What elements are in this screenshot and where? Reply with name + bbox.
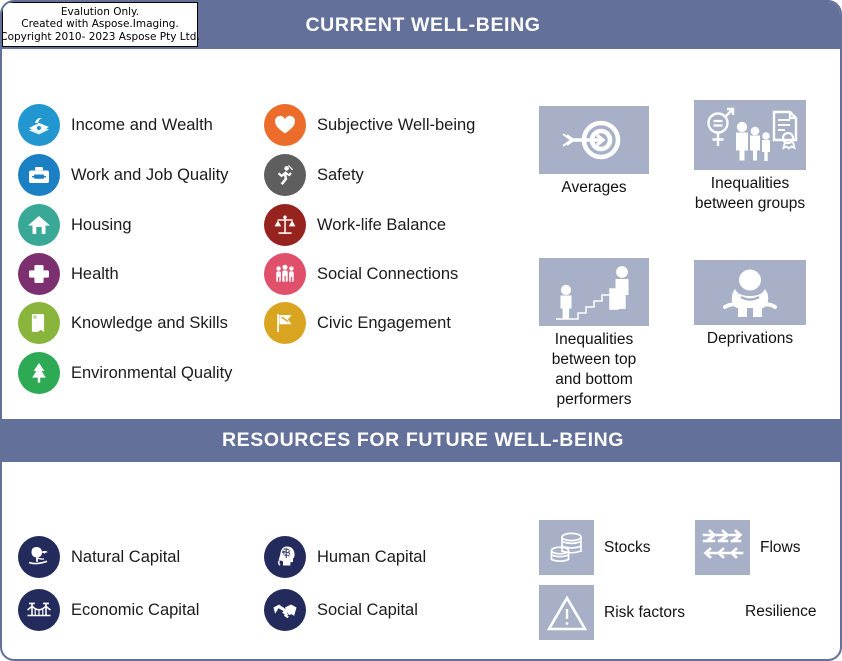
indicator-label: Knowledge and Skills <box>71 314 228 333</box>
house-icon <box>18 204 60 246</box>
indicator-work-life-balance[interactable]: Work-life Balance <box>264 204 446 246</box>
tile-resilience[interactable]: Resilience <box>745 603 817 621</box>
tile-label: Inequalities between groups <box>694 174 806 214</box>
aspose-watermark: Evalution Only. Created with Aspose.Imag… <box>2 2 198 47</box>
indicator-work-and-job-quality[interactable]: Work and Job Quality <box>18 154 228 196</box>
capital-label: Human Capital <box>317 548 426 567</box>
tile-deprivations[interactable]: Deprivations <box>694 260 806 349</box>
running-person-icon <box>264 154 306 196</box>
indicator-civic-engagement[interactable]: Civic Engagement <box>264 302 451 344</box>
wellbeing-framework-diagram: Evalution Only. Created with Aspose.Imag… <box>0 0 842 661</box>
tile-inequalities-between-groups[interactable]: Inequalities between groups <box>694 100 806 214</box>
book-icon <box>18 302 60 344</box>
tile-inequalities-top-bottom[interactable]: Inequalities between top and bottom perf… <box>539 258 649 410</box>
flag-icon <box>264 302 306 344</box>
indicator-label: Civic Engagement <box>317 314 451 333</box>
indicator-label: Safety <box>317 166 364 185</box>
tile-label: Stocks <box>604 538 651 558</box>
tile-label: Risk factors <box>604 603 685 623</box>
tile-label: Averages <box>539 178 649 198</box>
money-icon <box>18 104 60 146</box>
briefcase-icon <box>18 154 60 196</box>
indicator-label: Health <box>71 265 119 284</box>
section-title-current: CURRENT WELL-BEING <box>305 14 540 37</box>
person-crouching-icon <box>694 260 806 325</box>
handshake-icon <box>264 589 306 631</box>
medical-cross-icon <box>18 253 60 295</box>
target-arrow-icon <box>539 106 649 174</box>
gender-equality-family-icon <box>694 100 806 170</box>
watermark-line-2: Created with Aspose.Imaging. <box>21 18 179 31</box>
tile-risk-factors[interactable]: Risk factors <box>539 585 685 640</box>
capital-label: Economic Capital <box>71 601 199 620</box>
tile-label: Resilience <box>745 603 817 620</box>
indicator-label: Income and Wealth <box>71 116 213 135</box>
capital-natural[interactable]: Natural Capital <box>18 536 180 578</box>
bridge-icon <box>18 589 60 631</box>
coin-stack-icon <box>539 520 594 575</box>
flow-arrows-icon <box>695 520 750 575</box>
indicator-social-connections[interactable]: Social Connections <box>264 253 458 295</box>
indicator-housing[interactable]: Housing <box>18 204 132 246</box>
capital-human[interactable]: Human Capital <box>264 536 426 578</box>
capital-economic[interactable]: Economic Capital <box>18 589 199 631</box>
indicator-safety[interactable]: Safety <box>264 154 364 196</box>
indicator-label: Subjective Well-being <box>317 116 475 135</box>
indicator-label: Work-life Balance <box>317 216 446 235</box>
watermark-line-1: Evalution Only. <box>61 6 139 19</box>
tile-averages[interactable]: Averages <box>539 106 649 198</box>
indicator-income-and-wealth[interactable]: Income and Wealth <box>18 104 213 146</box>
tile-label: Deprivations <box>694 329 806 349</box>
nature-globe-icon <box>18 536 60 578</box>
scales-icon <box>264 204 306 246</box>
watermark-line-3: Copyright 2010- 2023 Aspose Pty Ltd. <box>0 31 200 44</box>
indicator-label: Work and Job Quality <box>71 166 228 185</box>
head-brain-icon <box>264 536 306 578</box>
tile-stocks[interactable]: Stocks <box>539 520 651 575</box>
indicator-knowledge-and-skills[interactable]: Knowledge and Skills <box>18 302 228 344</box>
tile-flows[interactable]: Flows <box>695 520 800 575</box>
tile-label: Inequalities between top and bottom perf… <box>539 330 649 410</box>
tree-icon <box>18 352 60 394</box>
indicator-health[interactable]: Health <box>18 253 119 295</box>
indicator-label: Housing <box>71 216 132 235</box>
indicator-environmental-quality[interactable]: Environmental Quality <box>18 352 232 394</box>
indicator-subjective-wellbeing[interactable]: Subjective Well-being <box>264 104 475 146</box>
tile-label: Flows <box>760 538 800 558</box>
indicator-label: Social Connections <box>317 265 458 284</box>
capital-label: Social Capital <box>317 601 418 620</box>
capital-label: Natural Capital <box>71 548 180 567</box>
heart-icon <box>264 104 306 146</box>
people-group-icon <box>264 253 306 295</box>
warning-triangle-icon <box>539 585 594 640</box>
stairs-people-icon <box>539 258 649 326</box>
section-header-future-wellbeing: RESOURCES FOR FUTURE WELL-BEING <box>2 419 842 462</box>
section-title-future: RESOURCES FOR FUTURE WELL-BEING <box>222 429 624 452</box>
indicator-label: Environmental Quality <box>71 364 232 383</box>
capital-social[interactable]: Social Capital <box>264 589 418 631</box>
